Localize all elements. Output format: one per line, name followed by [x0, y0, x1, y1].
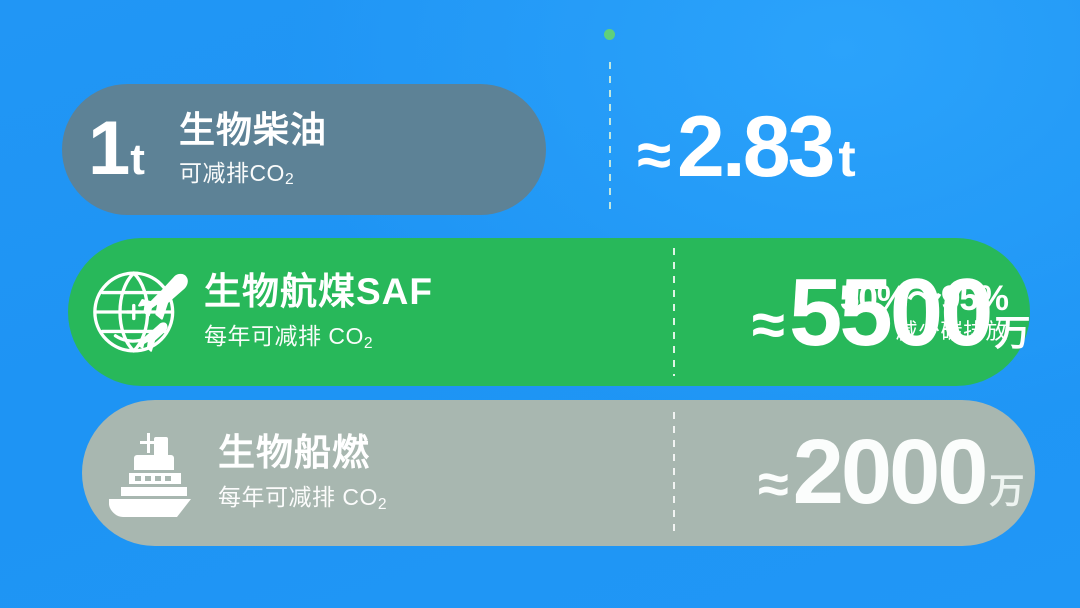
unit-badge: 1 t	[88, 119, 145, 180]
row-dashed-divider	[673, 412, 675, 534]
row-subtitle-subscript: 2	[285, 171, 294, 188]
connector-dashed-line	[609, 62, 611, 214]
unit-number: 1	[88, 119, 128, 180]
value-number: 5500	[789, 265, 991, 361]
approx-symbol: ≈	[752, 295, 785, 355]
value-suffix: 万	[989, 474, 1024, 509]
row-subtitle-subscript: 2	[364, 335, 373, 352]
row-subtitle: 每年可减排 CO2	[204, 319, 433, 354]
row-subtitle: 每年可减排 CO2	[218, 480, 387, 515]
value-number: 2.83	[677, 104, 832, 190]
metric-row-biodiesel: 1 t 生物柴油 可减排CO2	[62, 84, 546, 215]
ship-icon	[92, 425, 210, 521]
row-subtitle-text: 每年可减排 CO	[204, 323, 364, 349]
approx-symbol: ≈	[637, 125, 671, 187]
infographic-canvas: 1 t 生物柴油 可减排CO2 ≈ 2.83 t	[0, 0, 1080, 608]
row-subtitle-subscript: 2	[378, 496, 387, 513]
row-labels: 生物柴油 可减排CO2	[179, 109, 327, 191]
row-title: 生物航煤SAF	[204, 270, 433, 314]
row-subtitle-text: 可减排CO	[179, 160, 285, 186]
unit-symbol: t	[130, 142, 145, 177]
value-suffix: 万	[995, 315, 1031, 351]
value-suffix: t	[838, 133, 855, 185]
metric-row-marine-biofuel: 生物船燃 每年可减排 CO2 ≈ 2000 万	[82, 400, 1035, 546]
row-dashed-divider	[673, 248, 675, 376]
approx-symbol: ≈	[758, 456, 789, 512]
row-subtitle: 可减排CO2	[179, 156, 327, 191]
row-title: 生物船燃	[218, 431, 387, 475]
row-labels: 生物航煤SAF 每年可减排 CO2	[204, 270, 433, 353]
row-title: 生物柴油	[179, 109, 327, 151]
row-subtitle-text: 每年可减排 CO	[218, 484, 378, 510]
metric-row-saf: 生物航煤SAF 每年可减排 CO2 50%～95% 减少碳排放 ≈ 5500 万	[68, 238, 1030, 386]
value-number: 2000	[793, 426, 986, 518]
globe-airplane-icon	[76, 258, 198, 366]
metric-value-saf: ≈ 5500 万	[752, 265, 1031, 361]
connector-dot-icon	[604, 29, 615, 40]
row-labels: 生物船燃 每年可减排 CO2	[218, 431, 387, 514]
metric-value-biodiesel: ≈ 2.83 t	[637, 104, 856, 190]
metric-value-marine-biofuel: ≈ 2000 万	[758, 426, 1024, 518]
